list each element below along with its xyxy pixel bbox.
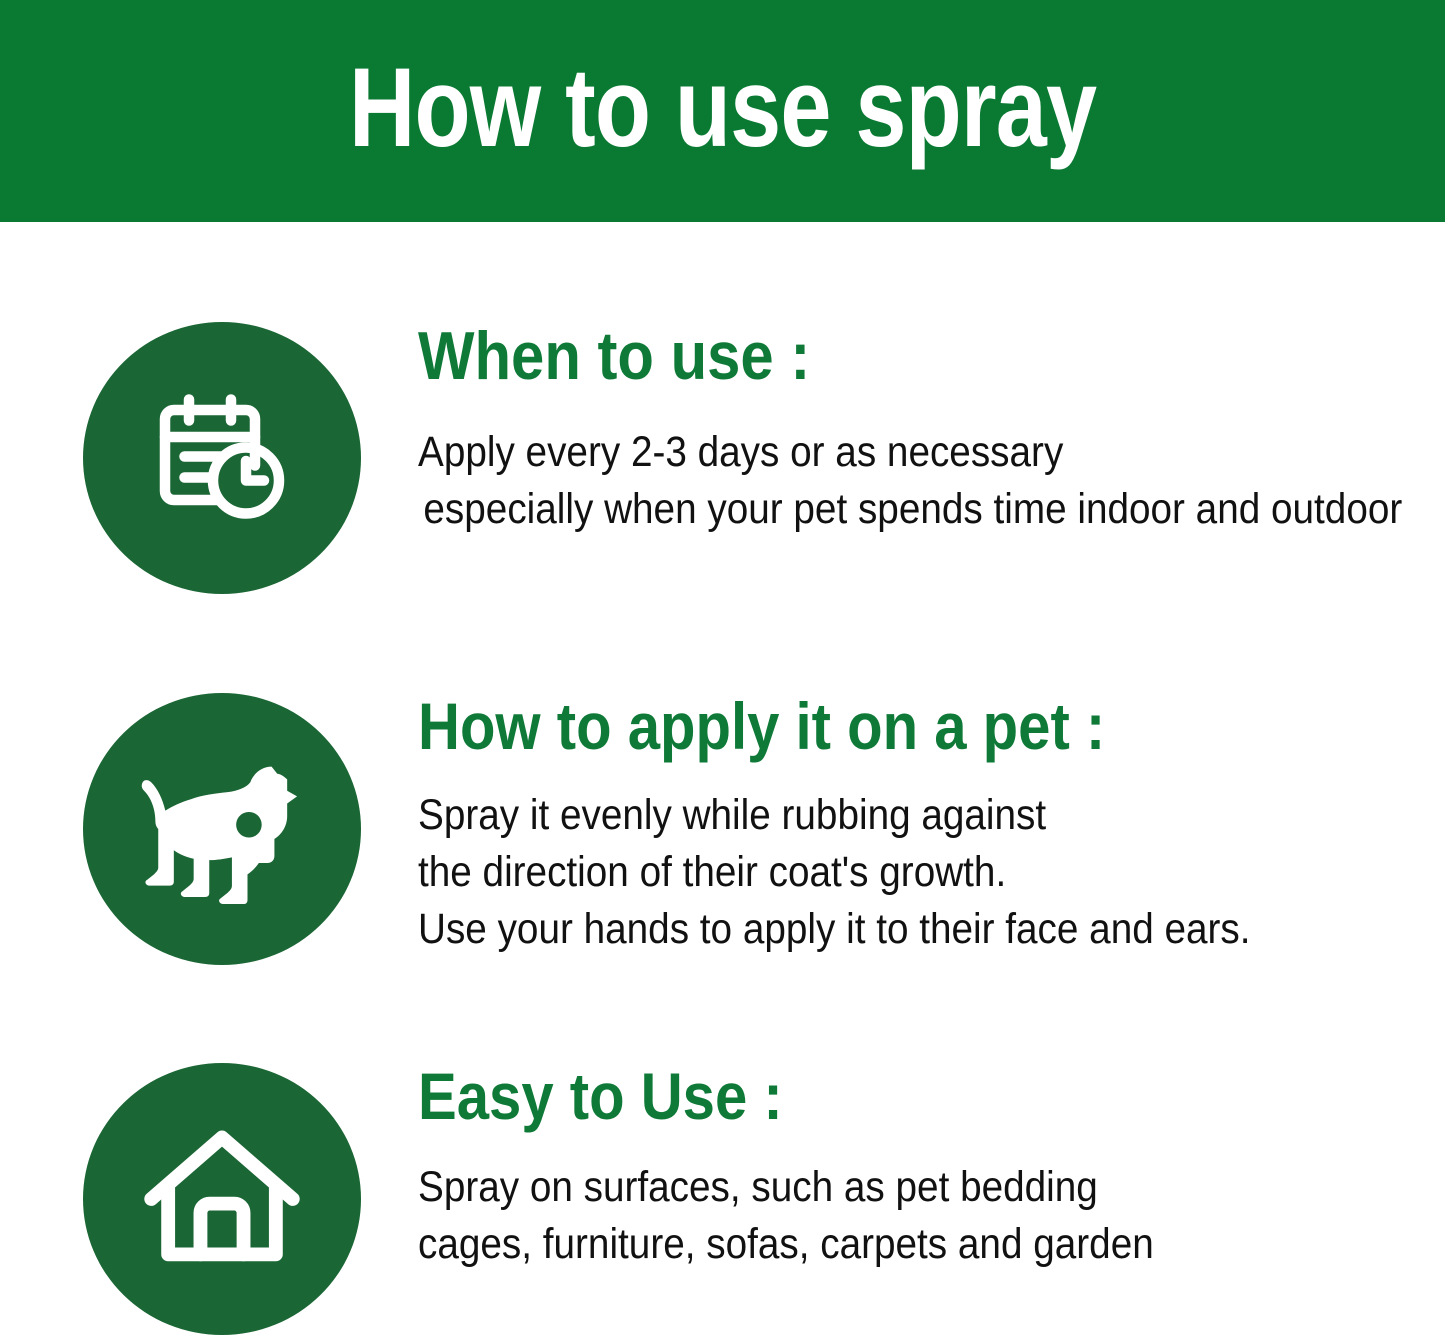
heading-how-to-apply: How to apply it on a pet : [418, 693, 1316, 759]
section-when-to-use-body: When to use : Apply every 2-3 days or as… [418, 322, 1438, 538]
dog-icon [137, 754, 307, 904]
icon-badge-easy-to-use [83, 1063, 361, 1335]
body-line: Use your hands to apply it to their face… [418, 901, 1336, 958]
text-block-how-to-apply: Spray it evenly while rubbing against th… [418, 787, 1438, 958]
body-line: especially when your pet spends time ind… [418, 481, 1336, 538]
heading-when-to-use: When to use : [418, 322, 1316, 390]
section-easy-to-use-body: Easy to Use : Spray on surfaces, such as… [418, 1063, 1438, 1273]
icon-badge-how-to-apply [83, 693, 361, 965]
heading-easy-to-use: Easy to Use : [418, 1063, 1316, 1129]
body-line: the direction of their coat's growth. [418, 844, 1336, 901]
section-how-to-apply-body: How to apply it on a pet : Spray it even… [418, 693, 1438, 958]
header-banner: How to use spray [0, 0, 1445, 222]
page-title: How to use spray [349, 52, 1096, 164]
body-line: Spray it evenly while rubbing against [418, 787, 1336, 844]
text-block-when-to-use: Apply every 2-3 days or as necessary esp… [418, 424, 1438, 538]
icon-badge-when-to-use [83, 322, 361, 594]
house-icon [142, 1124, 302, 1274]
body-line: Apply every 2-3 days or as necessary [418, 424, 1336, 481]
body-line: Spray on surfaces, such as pet bedding [418, 1159, 1336, 1216]
body-line: cages, furniture, sofas, carpets and gar… [418, 1216, 1336, 1273]
calendar-clock-icon [147, 383, 297, 533]
text-block-easy-to-use: Spray on surfaces, such as pet bedding c… [418, 1159, 1438, 1273]
